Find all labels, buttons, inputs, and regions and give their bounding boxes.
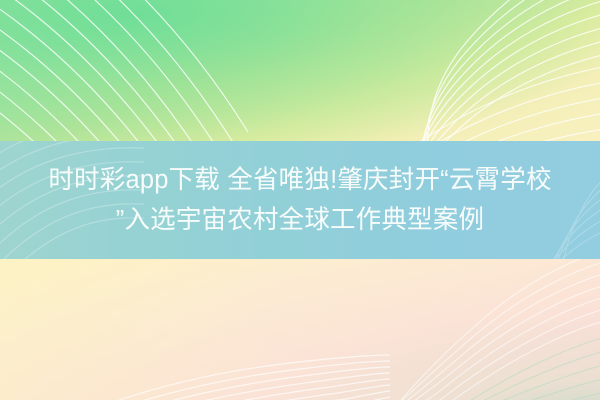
- top-gradient-band: [0, 0, 600, 141]
- headline-text: 时时彩app下载 全省唯独!肇庆封开“云霄学校 ”入选宇宙农村全球工作典型案例: [0, 141, 600, 259]
- top-band-color-wash: [0, 0, 600, 141]
- headline-line-1: 时时彩app下载 全省唯独!肇庆封开“云霄学校: [48, 160, 551, 200]
- headline-line-2: ”入选宇宙农村全球工作典型案例: [116, 200, 485, 240]
- bottom-gradient-band: [0, 259, 600, 400]
- bottom-band-color-wash: [0, 259, 600, 400]
- banner-image: 时时彩app下载 全省唯独!肇庆封开“云霄学校 ”入选宇宙农村全球工作典型案例: [0, 0, 600, 400]
